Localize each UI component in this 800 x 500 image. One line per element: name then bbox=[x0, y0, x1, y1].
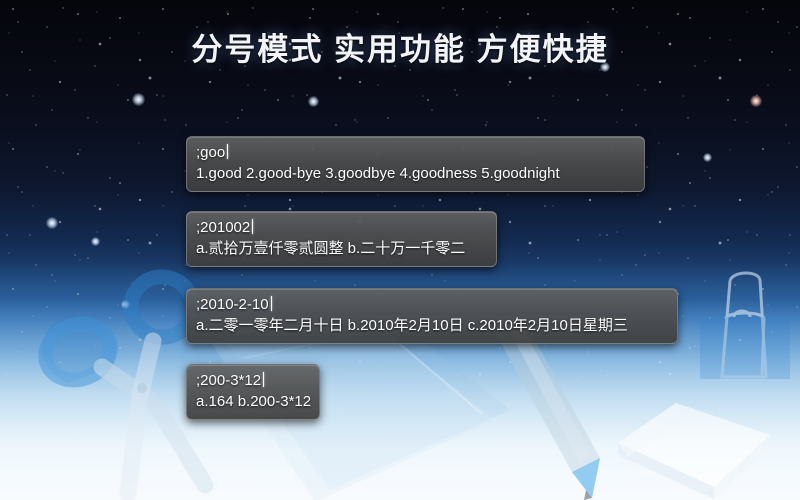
eraser-illustration bbox=[610, 395, 800, 500]
bright-star bbox=[308, 96, 319, 107]
page-title: 分号模式 实用功能 方便快捷 bbox=[0, 24, 800, 69]
promo-screenshot: 分号模式 实用功能 方便快捷 ;goo 1.good 2.good-bye 3.… bbox=[0, 0, 800, 500]
ime-input-line[interactable]: ;200-3*12 bbox=[196, 371, 310, 390]
ime-candidate-box[interactable]: ;201002 a.贰拾万壹仟零贰圆整 b.二十万一千零二 bbox=[186, 211, 497, 267]
ime-candidate-box[interactable]: ;goo 1.good 2.good-bye 3.goodbye 4.goodn… bbox=[186, 136, 645, 192]
text-caret bbox=[263, 372, 264, 387]
ime-candidate-box[interactable]: ;2010-2-10 a.二零一零年二月十日 b.2010年2月10日 c.20… bbox=[186, 288, 678, 344]
ime-candidate-list[interactable]: a.二零一零年二月十日 b.2010年2月10日 c.2010年2月10日星期三 bbox=[196, 315, 668, 336]
binder-clip-illustration bbox=[700, 265, 790, 395]
ime-candidate-box[interactable]: ;200-3*12 a.164 b.200-3*12 bbox=[186, 364, 320, 420]
ime-candidate-list[interactable]: a.贰拾万壹仟零贰圆整 b.二十万一千零二 bbox=[196, 238, 487, 259]
bright-star bbox=[46, 217, 58, 229]
pen-illustration bbox=[480, 330, 680, 500]
text-caret bbox=[271, 296, 272, 311]
ime-input-text: ;201002 bbox=[196, 219, 250, 236]
ime-input-line[interactable]: ;201002 bbox=[196, 218, 487, 237]
bright-star bbox=[121, 300, 130, 309]
bright-star bbox=[132, 93, 145, 106]
ime-candidate-list[interactable]: a.164 b.200-3*12 bbox=[196, 391, 310, 412]
ime-input-text: ;goo bbox=[196, 144, 225, 161]
text-caret bbox=[227, 144, 228, 159]
bright-star bbox=[750, 95, 762, 107]
bright-star bbox=[703, 153, 712, 162]
ime-input-line[interactable]: ;2010-2-10 bbox=[196, 295, 668, 314]
ime-candidate-list[interactable]: 1.good 2.good-bye 3.goodbye 4.goodness 5… bbox=[196, 163, 635, 184]
bright-star bbox=[91, 237, 100, 246]
ime-input-text: ;2010-2-10 bbox=[196, 296, 269, 313]
ime-input-text: ;200-3*12 bbox=[196, 372, 261, 389]
ime-input-line[interactable]: ;goo bbox=[196, 143, 635, 162]
text-caret bbox=[252, 219, 253, 234]
